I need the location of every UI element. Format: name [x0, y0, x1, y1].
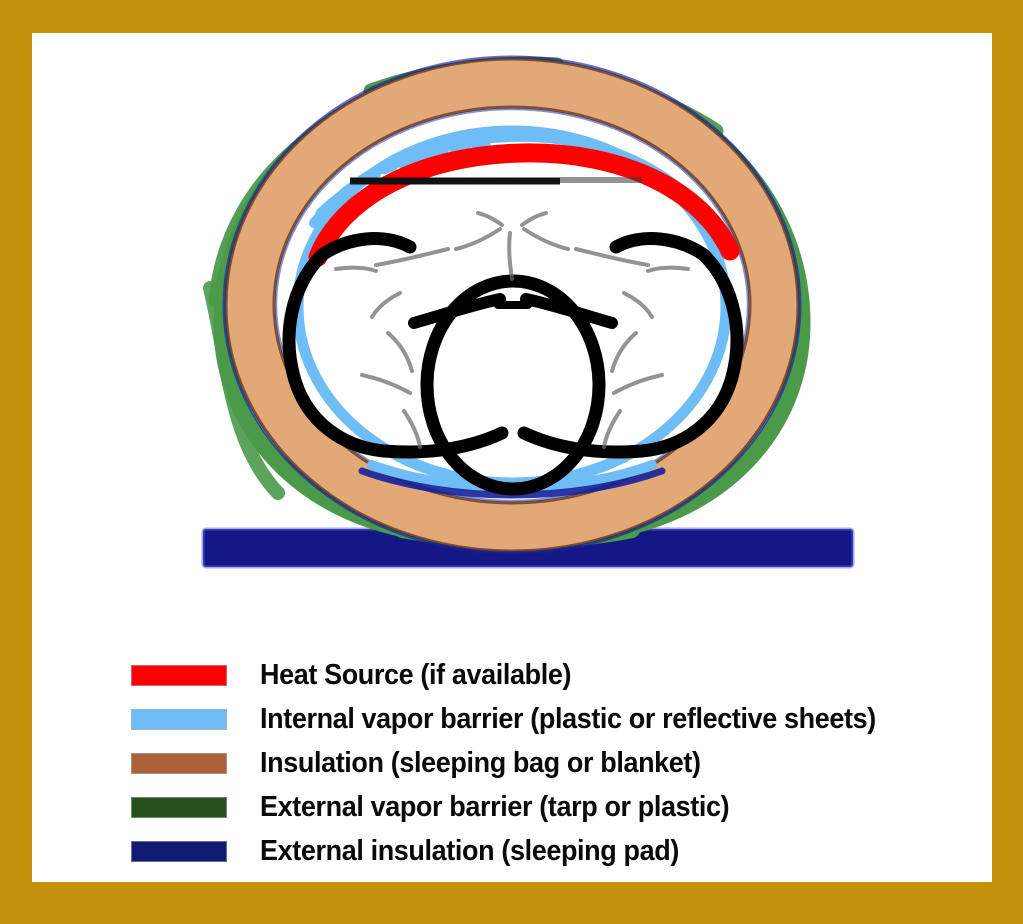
legend-swatch-external-insulation: [131, 841, 227, 862]
legend-item-external-vapor-barrier: External vapor barrier (tarp or plastic): [131, 785, 991, 829]
fold-upper-left: [456, 229, 500, 249]
legend: Heat Source (if available) Internal vapo…: [131, 653, 991, 873]
legend-label-external-vapor-barrier: External vapor barrier (tarp or plastic): [260, 793, 729, 822]
fold-top-right-tick: [522, 213, 546, 225]
content-canvas: Heat Source (if available) Internal vapo…: [32, 33, 992, 882]
legend-label-insulation: Insulation (sleeping bag or blanket): [260, 749, 701, 778]
fold-left-5: [404, 411, 420, 447]
fold-right-2: [624, 293, 652, 317]
fold-left-small: [336, 268, 376, 271]
legend-item-internal-vapor-barrier: Internal vapor barrier (plastic or refle…: [131, 697, 991, 741]
legend-item-heat-source: Heat Source (if available): [131, 653, 991, 697]
legend-swatch-internal-vapor-barrier: [131, 709, 227, 730]
person-right-body-outline: [524, 255, 737, 452]
legend-item-external-insulation: External insulation (sleeping pad): [131, 829, 991, 873]
legend-label-external-insulation: External insulation (sleeping pad): [260, 837, 679, 866]
fold-right-4: [614, 375, 662, 393]
fold-right-5: [604, 411, 620, 447]
legend-label-heat-source: Heat Source (if available): [260, 661, 571, 690]
legend-swatch-external-vapor-barrier: [131, 797, 227, 818]
fold-top-left-tick: [478, 213, 502, 225]
fold-left-3: [388, 333, 412, 371]
fold-right-3: [612, 333, 636, 371]
fold-upper-right: [524, 229, 568, 249]
shelter-cross-section-diagram: [32, 33, 992, 593]
diagram-svg: [32, 33, 992, 593]
fold-right-small: [648, 268, 688, 271]
person-right-shoulder: [616, 239, 704, 255]
fold-left-4: [362, 375, 410, 393]
legend-item-insulation: Insulation (sleeping bag or blanket): [131, 741, 991, 785]
person-left-body-outline: [289, 255, 502, 452]
fabric-fold-sketch-lines: [336, 213, 688, 447]
page-frame: Heat Source (if available) Internal vapo…: [0, 0, 1023, 924]
fold-left-2: [372, 293, 400, 317]
person-left-shoulder: [322, 239, 410, 255]
fold-center-vertical: [509, 233, 512, 279]
legend-swatch-heat-source: [131, 665, 227, 686]
legend-label-internal-vapor-barrier: Internal vapor barrier (plastic or refle…: [260, 705, 876, 734]
legend-swatch-insulation: [131, 753, 227, 774]
